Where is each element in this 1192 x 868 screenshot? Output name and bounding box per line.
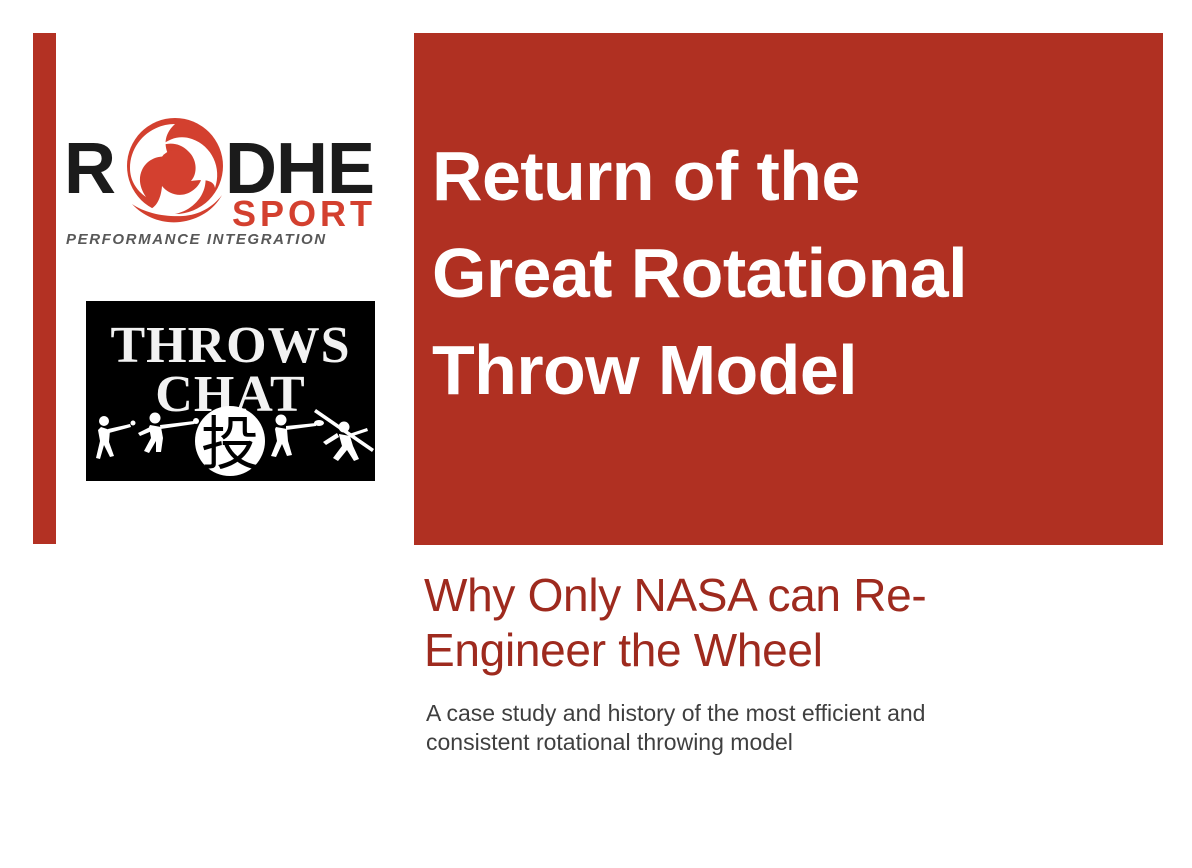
throws-chat-logo: THROWS CHAT 投: [86, 301, 375, 481]
svg-text:投: 投: [201, 410, 259, 478]
left-accent-bar: [33, 33, 56, 544]
rodhe-triskelion-icon: [127, 118, 223, 222]
rodhe-sport-logo: R DHE SPORT PERFORMANCE INTEGRATION: [62, 118, 407, 246]
throw-kanji-medallion-icon: 投: [195, 406, 265, 478]
page-subtitle: Why Only NASA can Re- Engineer the Wheel: [424, 568, 1124, 678]
subtitle-area: Why Only NASA can Re- Engineer the Wheel…: [424, 568, 1124, 757]
rodhe-wordmark-r: R: [64, 129, 115, 209]
rodhe-wordmark-sport: SPORT: [232, 193, 376, 234]
page-title: Return of the Great Rotational Throw Mod…: [432, 128, 1132, 419]
rodhe-tagline: PERFORMANCE INTEGRATION: [66, 231, 327, 246]
title-red-panel: Return of the Great Rotational Throw Mod…: [414, 33, 1163, 545]
page-description: A case study and history of the most eff…: [426, 699, 1086, 757]
